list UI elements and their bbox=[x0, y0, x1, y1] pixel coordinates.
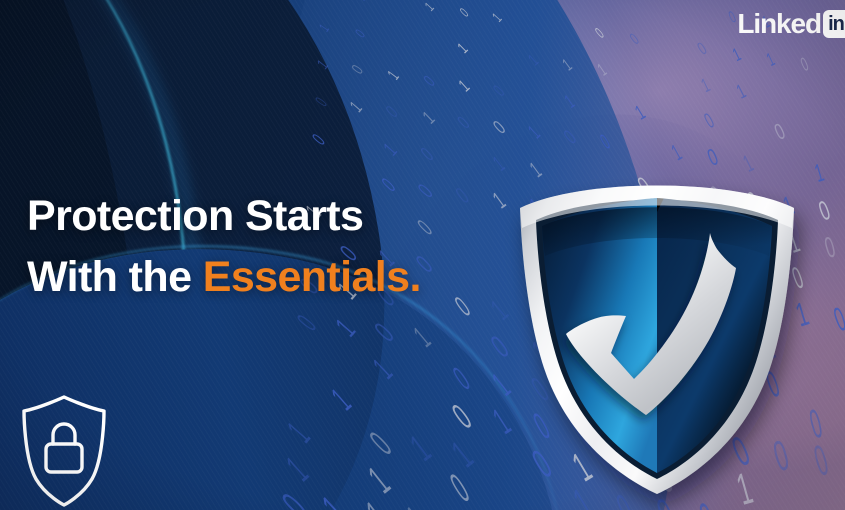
shield-lock-icon bbox=[18, 392, 110, 510]
headline-line-2: With the Essentials. bbox=[27, 247, 547, 308]
lock-badge-shield-outline bbox=[24, 397, 104, 505]
shield-checkmark-icon bbox=[512, 172, 802, 497]
lock-badge-body bbox=[46, 444, 82, 472]
banner-canvas: 0100110100111010110100011010111111101010… bbox=[0, 0, 845, 510]
linkedin-in-badge-text: in bbox=[828, 14, 844, 34]
headline-accent-word: Essentials bbox=[203, 253, 410, 301]
page-title: Protection Starts With the Essentials. bbox=[27, 186, 547, 308]
linkedin-in-badge: in bbox=[823, 10, 845, 38]
linkedin-wordmark: Linked bbox=[737, 10, 821, 38]
headline-line-1: Protection Starts bbox=[27, 186, 547, 247]
lock-badge-shackle bbox=[53, 424, 75, 444]
headline-line-2-prefix: With the bbox=[27, 253, 203, 301]
headline-period: . bbox=[409, 253, 420, 301]
linkedin-logo[interactable]: Linked in bbox=[737, 8, 845, 40]
